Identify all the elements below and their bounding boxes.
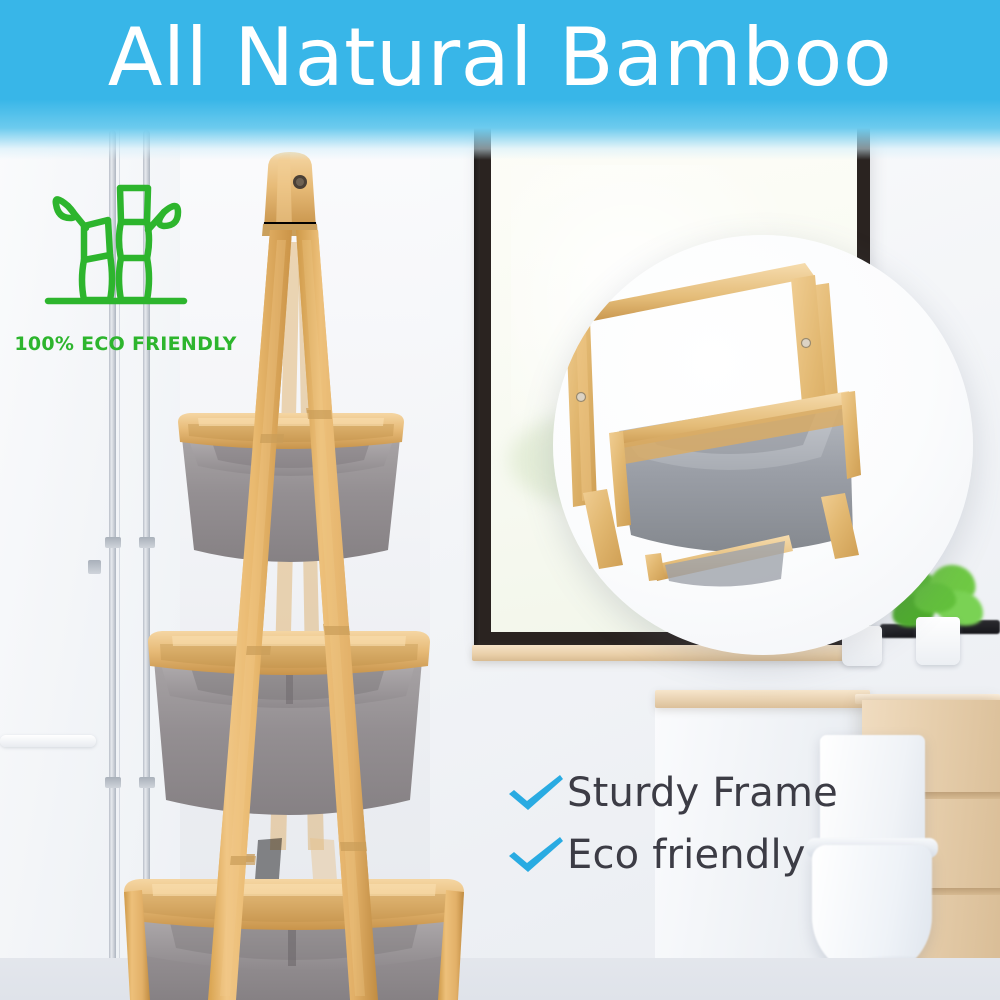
basket-bottom-rim-highlight — [152, 884, 436, 896]
eco-friendly-badge: 100% ECO FRIENDLY — [8, 170, 243, 365]
product-top-screw-inner — [296, 178, 304, 186]
eco-badge-label: 100% ECO FRIENDLY — [8, 333, 243, 355]
product-node-front — [260, 434, 284, 443]
feature-item-eco-friendly: Eco friendly — [505, 824, 838, 886]
feature-label: Eco friendly — [567, 832, 806, 878]
check-icon — [505, 773, 567, 813]
product-basket-bottom — [124, 879, 464, 1000]
handle-mount — [88, 560, 101, 574]
product-basket-middle — [148, 631, 430, 815]
feature-label: Sturdy Frame — [567, 770, 838, 816]
check-icon — [505, 835, 567, 875]
towel-rail — [0, 735, 96, 747]
bamboo-stalks-icon — [8, 170, 243, 335]
countertop — [655, 690, 870, 708]
inset-lower-joint — [645, 553, 665, 581]
inset-screw — [577, 393, 586, 402]
basket-top-rim-highlight — [198, 418, 384, 426]
inset-illustration — [553, 235, 973, 655]
product-node-front — [246, 646, 271, 655]
product-top-cap-highlight — [276, 154, 292, 228]
feature-list: Sturdy Frame Eco friendly — [505, 762, 838, 886]
product-detail-inset — [553, 235, 973, 655]
feature-item-sturdy-frame: Sturdy Frame — [505, 762, 838, 824]
product-node-front — [307, 410, 332, 419]
product-node-front — [340, 842, 367, 851]
product-node-front — [230, 856, 256, 865]
plant-pot — [916, 617, 960, 665]
basket-middle-rim-highlight — [172, 636, 406, 646]
product-basket-top — [178, 413, 404, 562]
product-marketing-image: 100% ECO FRIENDLY Sturdy Frame Eco frien… — [0, 0, 1000, 1000]
inset-screw — [802, 339, 811, 348]
product-node-front — [324, 626, 350, 635]
